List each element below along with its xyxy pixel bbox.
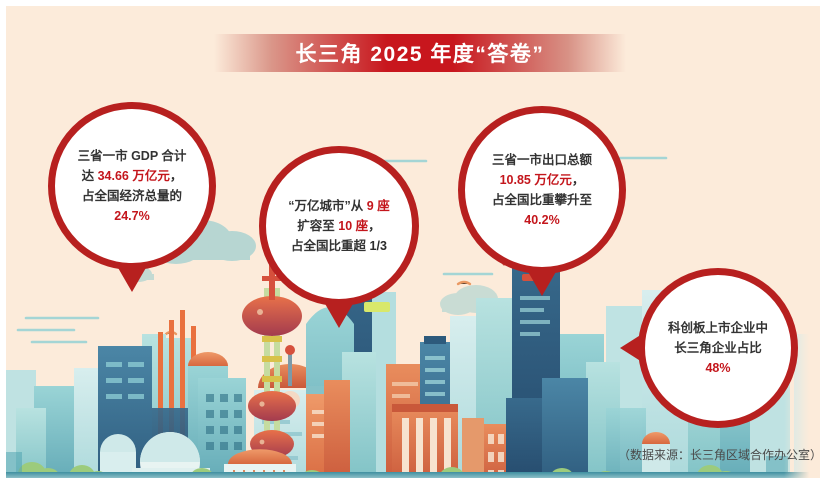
bubble-text-gdp: 三省一市 GDP 合计达 34.66 万亿元，占全国经济总量的24.7% xyxy=(64,146,201,227)
page-title: 长三角 2025 年度“答卷” xyxy=(296,38,545,68)
bubble-tail-left-icon xyxy=(620,334,642,362)
bubble-ring: 三省一市 GDP 合计达 34.66 万亿元，占全国经济总量的24.7% xyxy=(48,102,216,270)
bubble-tail-down-icon xyxy=(324,302,354,328)
bubble-ring: 三省一市出口总额10.85 万亿元，占全国比重攀升至40.2% xyxy=(458,106,626,274)
callout-bubble-star-market: 科创板上市企业中长三角企业占比48% xyxy=(638,268,798,428)
callout-bubble-cities: “万亿城市”从 9 座扩容至 10 座，占全国比重超 1/3 xyxy=(259,146,419,306)
bubble-tail-down-icon xyxy=(527,270,557,296)
callout-bubble-export: 三省一市出口总额10.85 万亿元，占全国比重攀升至40.2% xyxy=(458,106,626,274)
bubble-text-export: 三省一市出口总额10.85 万亿元，占全国比重攀升至40.2% xyxy=(478,150,606,231)
bubble-tail-down-icon xyxy=(117,266,147,292)
bubble-text-cities: “万亿城市”从 9 座扩容至 10 座，占全国比重超 1/3 xyxy=(274,196,403,257)
bubble-ring: 科创板上市企业中长三角企业占比48% xyxy=(638,268,798,428)
data-source-note: （数据来源：长三角区域合作办公室） xyxy=(618,446,822,463)
title-banner: 长三角 2025 年度“答卷” xyxy=(214,34,626,72)
bubble-ring: “万亿城市”从 9 座扩容至 10 座，占全国比重超 1/3 xyxy=(259,146,419,306)
infographic-canvas: 长三角 2025 年度“答卷” xyxy=(0,0,826,484)
bubble-text-star-market: 科创板上市企业中长三角企业占比48% xyxy=(654,318,782,379)
ground-band xyxy=(6,472,826,484)
callout-bubble-gdp: 三省一市 GDP 合计达 34.66 万亿元，占全国经济总量的24.7% xyxy=(48,102,216,270)
